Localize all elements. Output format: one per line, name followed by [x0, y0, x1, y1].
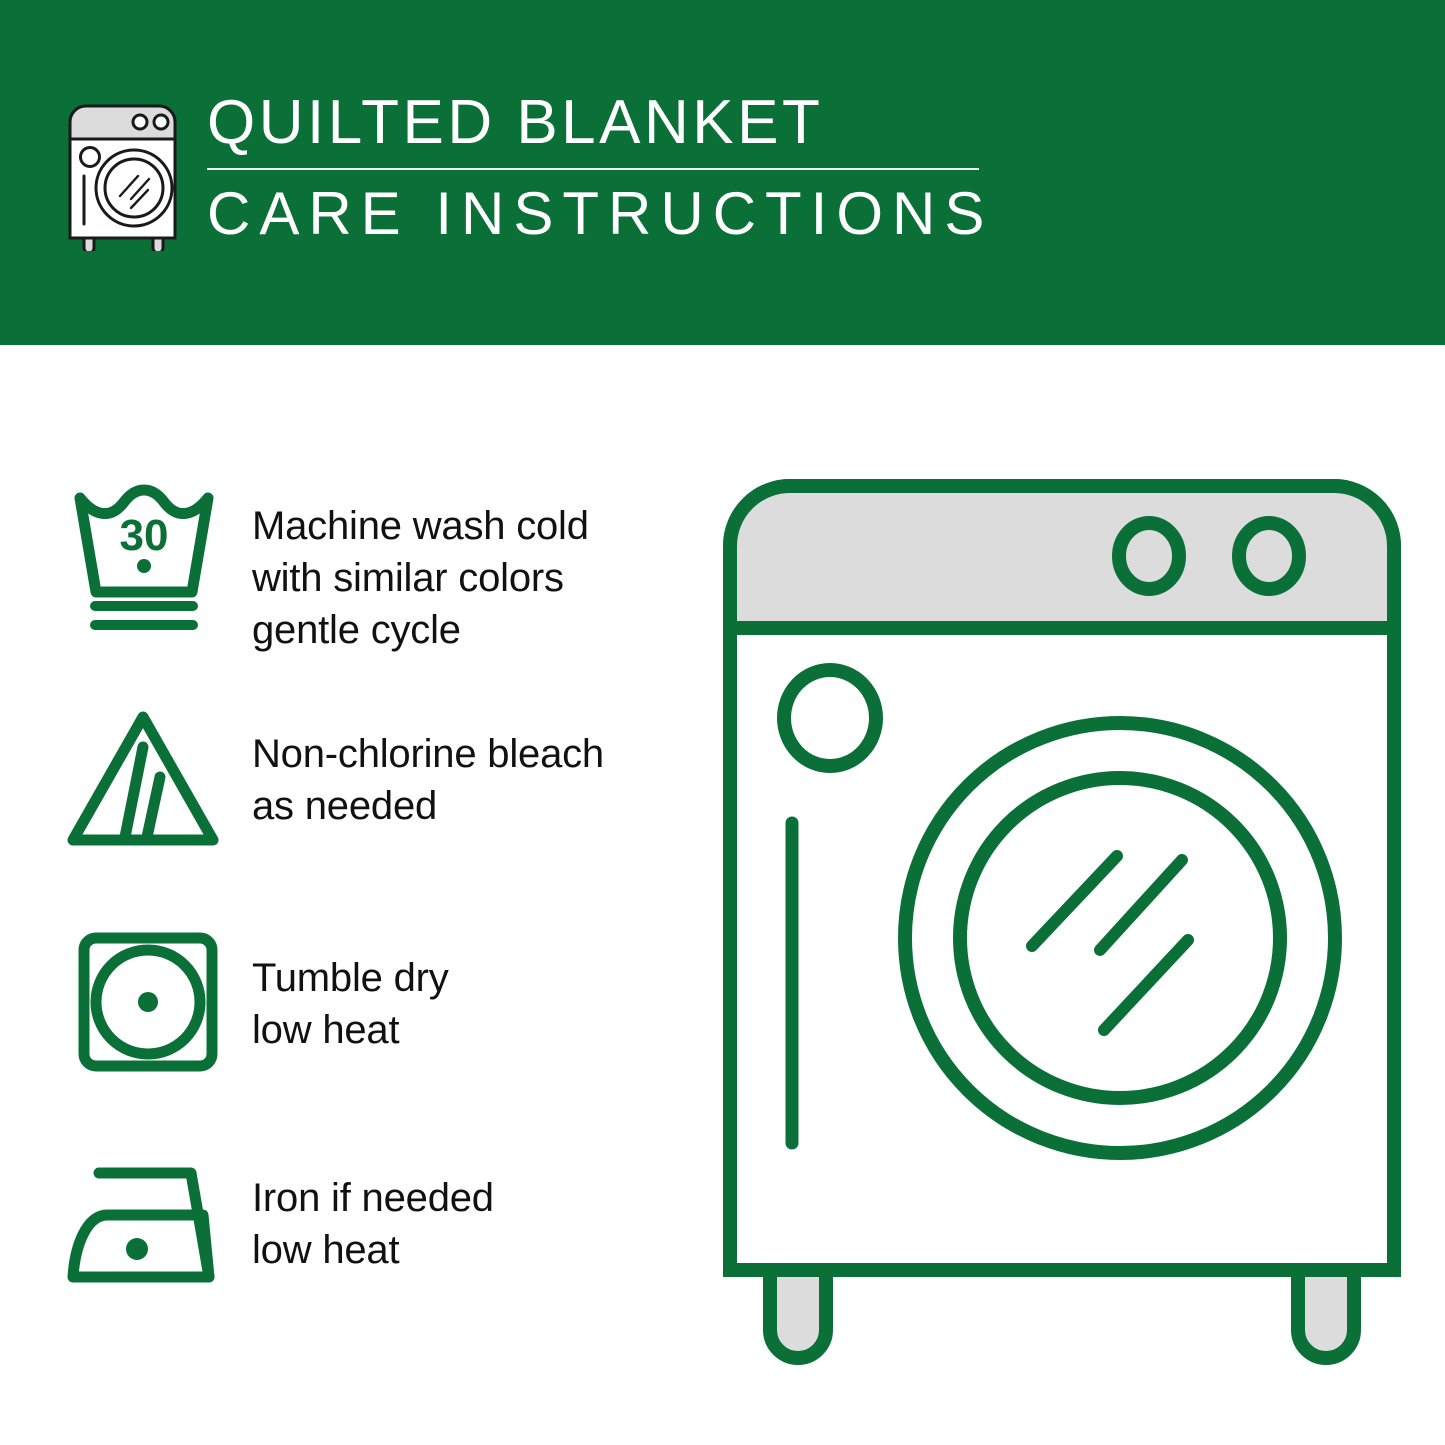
care-text-line: Non-chlorine bleach [252, 728, 702, 780]
detergent-button [784, 670, 876, 766]
page-subtitle: CARE INSTRUCTIONS [207, 184, 1020, 244]
care-instruction-list: 30 Machine wash cold with similar colors… [62, 478, 702, 1366]
care-row-iron: Iron if needed low heat [62, 1144, 702, 1366]
care-instructions-poster: QUILTED BLANKET CARE INSTRUCTIONS 30 [0, 0, 1445, 1445]
title-divider [207, 168, 979, 170]
front-load-washing-machine-illustration [712, 468, 1412, 1368]
door-inner-ring [960, 778, 1280, 1098]
leg-left [770, 1270, 826, 1358]
care-text-line: Machine wash cold [252, 500, 702, 552]
header-content: QUILTED BLANKET CARE INSTRUCTIONS [60, 92, 1020, 267]
wash-tub-30-gentle-icon: 30 [62, 478, 234, 638]
care-text-line: with similar colors [252, 552, 702, 604]
washing-machine-icon [60, 96, 185, 251]
iron-low-heat-icon [62, 1144, 234, 1304]
care-text-line: as needed [252, 780, 702, 832]
header-title-group: QUILTED BLANKET CARE INSTRUCTIONS [207, 92, 1020, 244]
care-text-iron: Iron if needed low heat [252, 1144, 702, 1276]
care-text-tumble-dry: Tumble dry low heat [252, 922, 702, 1056]
care-text-line: low heat [252, 1004, 702, 1056]
care-text-line: gentle cycle [252, 604, 702, 656]
tumble-dry-low-icon [62, 922, 234, 1082]
care-row-tumble-dry: Tumble dry low heat [62, 922, 702, 1144]
header-band: QUILTED BLANKET CARE INSTRUCTIONS [0, 0, 1445, 345]
leg-right [1298, 1270, 1354, 1358]
care-text-line: Iron if needed [252, 1172, 702, 1224]
wash-temperature-label: 30 [120, 511, 169, 560]
care-row-bleach: Non-chlorine bleach as needed [62, 700, 702, 922]
page-title: QUILTED BLANKET [207, 92, 1020, 154]
care-text-machine-wash: Machine wash cold with similar colors ge… [252, 478, 702, 656]
care-text-bleach: Non-chlorine bleach as needed [252, 700, 702, 832]
control-knob-left [1119, 523, 1179, 589]
non-chlorine-bleach-triangle-icon [62, 700, 234, 860]
control-knob-right [1239, 523, 1299, 589]
care-row-machine-wash: 30 Machine wash cold with similar colors… [62, 478, 702, 700]
care-text-line: Tumble dry [252, 952, 702, 1004]
care-text-line: low heat [252, 1224, 702, 1276]
